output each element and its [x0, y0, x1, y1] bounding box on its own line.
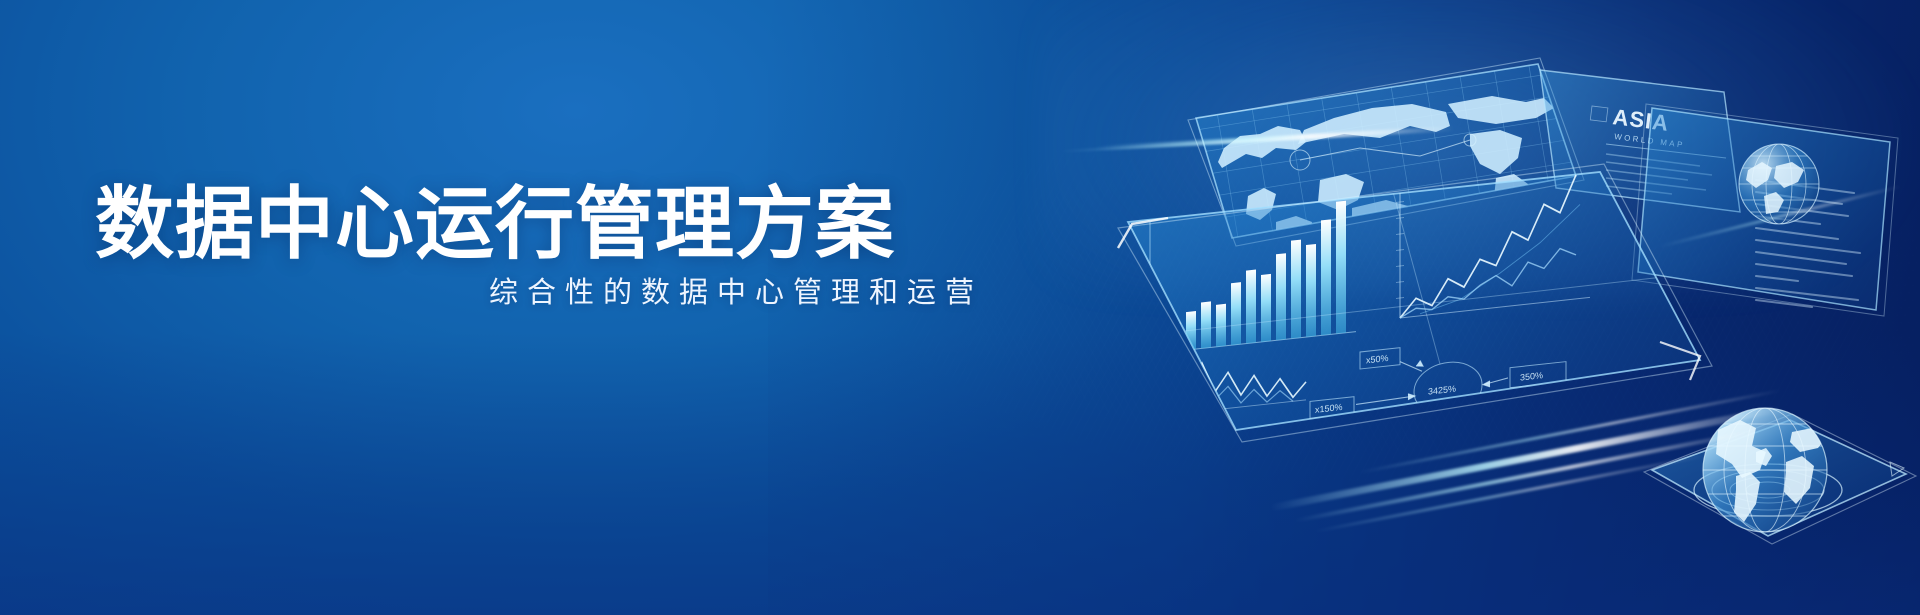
hero-banner: 数据中心运行管理方案 综合性的数据中心管理和运营 — [0, 0, 1920, 615]
page-subtitle: 综合性的数据中心管理和运营 — [489, 279, 983, 308]
page-title: 数据中心运行管理方案 — [95, 184, 895, 263]
dashboard-panel: x50% x150% 3425% 350% 25% — [1118, 164, 1712, 454]
wireframe-globe-small — [1739, 144, 1819, 224]
text-panel — [1632, 104, 1898, 316]
banner-text-block: 数据中心运行管理方案 综合性的数据中心管理和运营 — [0, 0, 1060, 615]
wireframe-globe-large — [1703, 408, 1827, 532]
hologram-illustration: ASIA WORLD MAP — [1000, 0, 1920, 615]
metric-label-25: 25% — [1410, 429, 1428, 441]
